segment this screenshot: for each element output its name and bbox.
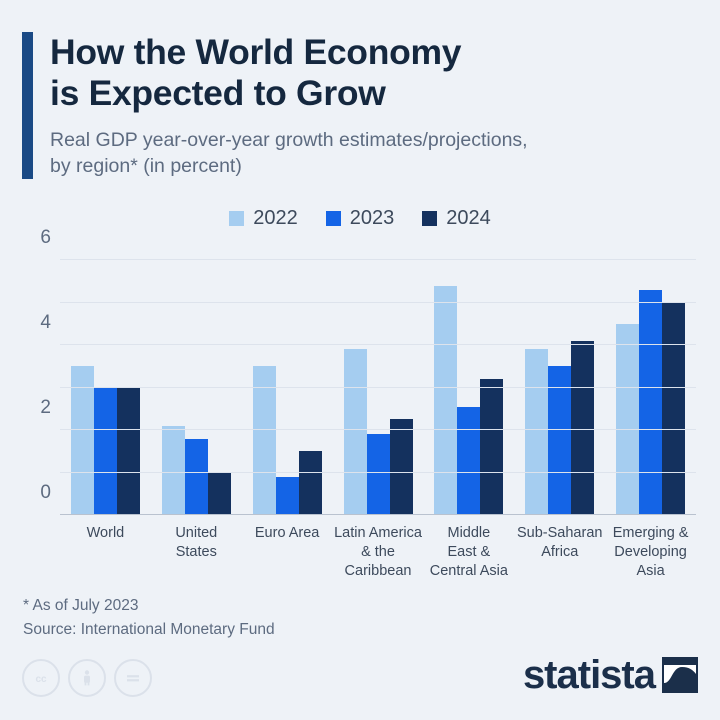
legend-label-2022: 2022	[253, 207, 298, 230]
bar-2024[interactable]	[208, 473, 231, 516]
bottom-bar: cc statista	[0, 645, 720, 720]
bar-2023[interactable]	[367, 434, 390, 515]
bar-2023[interactable]	[276, 477, 299, 515]
chart-legend: 202220232024	[0, 207, 720, 230]
bar-group	[242, 260, 333, 515]
y-axis-tick-6: 6	[40, 227, 51, 249]
plot-area: 0246	[60, 260, 696, 515]
bar-group	[151, 260, 242, 515]
statista-mark-icon	[662, 657, 698, 693]
creative-commons-badges: cc	[22, 659, 152, 697]
legend-swatch-2024	[422, 211, 437, 226]
bar-2024[interactable]	[480, 379, 503, 515]
x-axis-label: Latin America & the Caribbean	[333, 524, 424, 581]
header: How the World Economy is Expected to Gro…	[22, 32, 698, 179]
statista-wordmark: statista	[523, 655, 655, 695]
infographic-root: How the World Economy is Expected to Gro…	[0, 0, 720, 720]
legend-item-2024[interactable]: 2024	[422, 207, 491, 230]
bar-2024[interactable]	[571, 341, 594, 515]
page-title: How the World Economy is Expected to Gro…	[50, 32, 698, 114]
x-axis-label: Middle East & Central Asia	[423, 524, 514, 581]
gridline-2	[60, 429, 696, 430]
bar-2023[interactable]	[548, 366, 571, 515]
svg-text:cc: cc	[35, 674, 47, 685]
bar-2023[interactable]	[185, 439, 208, 516]
bar-chart: 0246	[22, 252, 698, 522]
footnote-source: Source: International Monetary Fund	[23, 618, 275, 642]
bar-2024[interactable]	[299, 451, 322, 515]
x-axis-label: Emerging & Developing Asia	[605, 524, 696, 581]
gridline-6	[60, 259, 696, 260]
gridline-1	[60, 472, 696, 473]
legend-swatch-2023	[326, 211, 341, 226]
legend-item-2022[interactable]: 2022	[229, 207, 298, 230]
page-subtitle: Real GDP year-over-year growth estimates…	[50, 128, 698, 179]
bar-2022[interactable]	[162, 426, 185, 515]
x-axis-label: Euro Area	[242, 524, 333, 581]
x-axis-label: United States	[151, 524, 242, 581]
statista-logo: statista	[523, 655, 698, 695]
y-axis-tick-2: 2	[40, 397, 51, 419]
bar-2022[interactable]	[525, 349, 548, 515]
header-text: How the World Economy is Expected to Gro…	[50, 32, 698, 179]
x-axis-labels: WorldUnited StatesEuro AreaLatin America…	[60, 524, 696, 581]
footnote-as-of: * As of July 2023	[23, 594, 275, 618]
bar-2022[interactable]	[344, 349, 367, 515]
gridline-4	[60, 344, 696, 345]
gridline-5	[60, 302, 696, 303]
bar-2024[interactable]	[117, 388, 140, 516]
bar-group	[423, 260, 514, 515]
bar-2022[interactable]	[253, 366, 276, 515]
legend-item-2023[interactable]: 2023	[326, 207, 395, 230]
cc-no-derivatives-icon	[114, 659, 152, 697]
title-accent-bar	[22, 32, 33, 179]
x-axis-label: Sub-Saharan Africa	[514, 524, 605, 581]
bar-group	[60, 260, 151, 515]
x-axis-label: World	[60, 524, 151, 581]
gridline-3	[60, 387, 696, 388]
y-axis-tick-0: 0	[40, 482, 51, 504]
bar-group	[333, 260, 424, 515]
bar-2023[interactable]	[457, 407, 480, 515]
bar-group	[605, 260, 696, 515]
bar-2024[interactable]	[662, 303, 685, 516]
bars-layer	[60, 260, 696, 515]
bar-2023[interactable]	[94, 388, 117, 516]
footnotes: * As of July 2023 Source: International …	[23, 594, 275, 642]
bar-2024[interactable]	[390, 419, 413, 515]
legend-label-2023: 2023	[350, 207, 395, 230]
bar-2022[interactable]	[71, 366, 94, 515]
legend-label-2024: 2024	[446, 207, 491, 230]
bar-2022[interactable]	[434, 286, 457, 516]
bar-2023[interactable]	[639, 290, 662, 515]
y-axis-tick-4: 4	[40, 312, 51, 334]
bar-group	[514, 260, 605, 515]
creative-commons-icon: cc	[22, 659, 60, 697]
gridline-0	[60, 514, 696, 515]
cc-attribution-icon	[68, 659, 106, 697]
legend-swatch-2022	[229, 211, 244, 226]
bar-2022[interactable]	[616, 324, 639, 515]
